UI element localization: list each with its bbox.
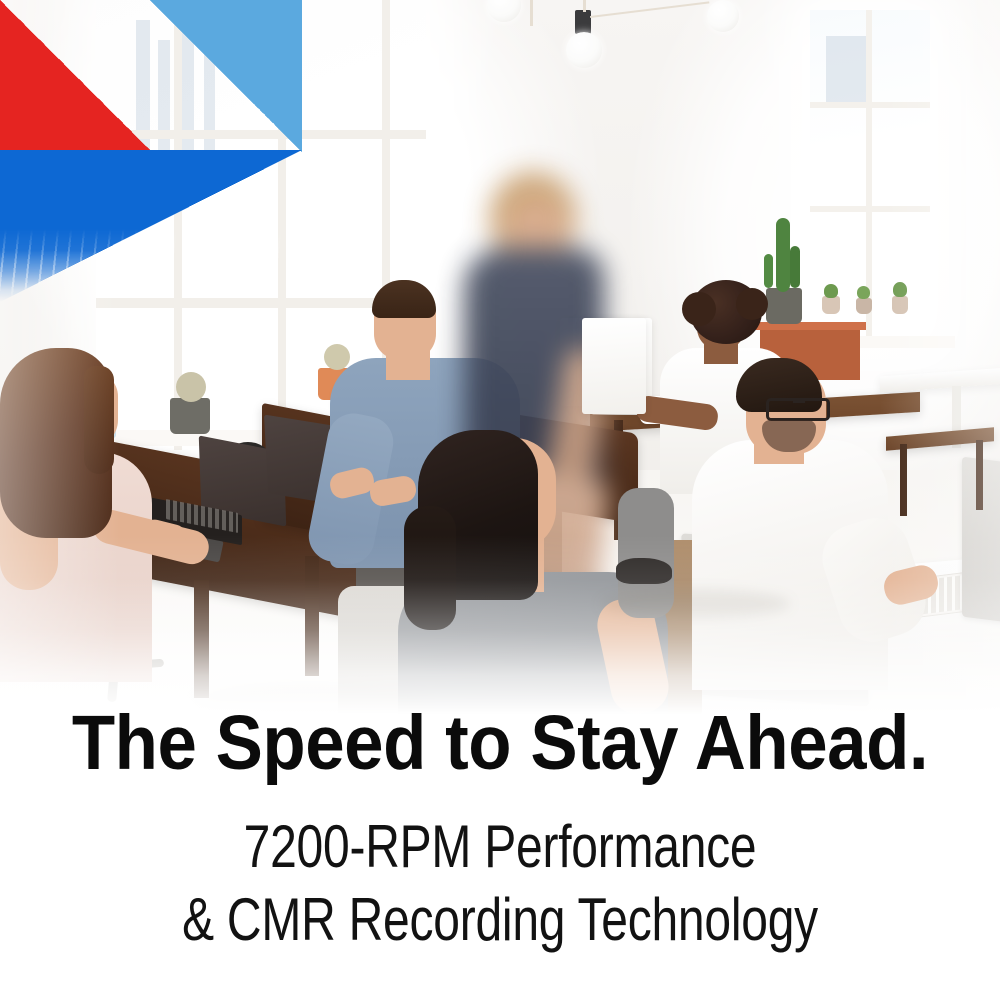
subheadline-line-2: & CMR Recording Technology: [100, 883, 900, 956]
plant-small: [857, 286, 870, 299]
bench-leg: [900, 444, 907, 516]
person-man-glasses-eyeglasses-icon: [793, 400, 805, 403]
person-woman-curly-hair: [682, 292, 716, 326]
plant-pot-small: [856, 298, 872, 314]
plant-pot-small: [892, 296, 908, 314]
office-photo: [0, 0, 1000, 720]
subheadline-line-1: 7200-RPM Performance: [100, 810, 900, 883]
person-woman-pink-hair-front: [84, 366, 114, 474]
cactus-arm: [790, 246, 800, 288]
plant-pot: [170, 398, 210, 434]
cactus-arm: [764, 254, 773, 288]
shoe: [616, 558, 672, 584]
plant-pot-small: [822, 296, 840, 314]
monitor-left-edge: [582, 318, 646, 414]
person-woman-grey-ponytail: [404, 506, 456, 630]
person-woman-curly-hair: [736, 288, 768, 320]
pendant-bulb-icon: [566, 32, 602, 68]
light-cord: [583, 0, 586, 12]
bench-leg: [976, 440, 983, 510]
bulb-socket: [575, 10, 591, 34]
desk-leg: [305, 556, 319, 676]
desk-leg: [194, 580, 209, 698]
plant-left: [176, 372, 206, 402]
hero-text-block: The Speed to Stay Ahead. 7200-RPM Perfor…: [0, 705, 1000, 956]
plant-left: [324, 344, 350, 370]
page-title: The Speed to Stay Ahead.: [40, 705, 960, 782]
subheadline: 7200-RPM Performance & CMR Recording Tec…: [0, 810, 1000, 956]
pendant-bulb-icon: [707, 0, 739, 32]
light-cord: [530, 0, 533, 26]
cactus-plant: [776, 218, 790, 292]
plant-small: [824, 284, 838, 298]
plant-pot: [766, 288, 802, 324]
plant-small: [893, 282, 907, 297]
ad-banner: The Speed to Stay Ahead. 7200-RPM Perfor…: [0, 0, 1000, 1000]
floor-shadow: [600, 590, 790, 618]
